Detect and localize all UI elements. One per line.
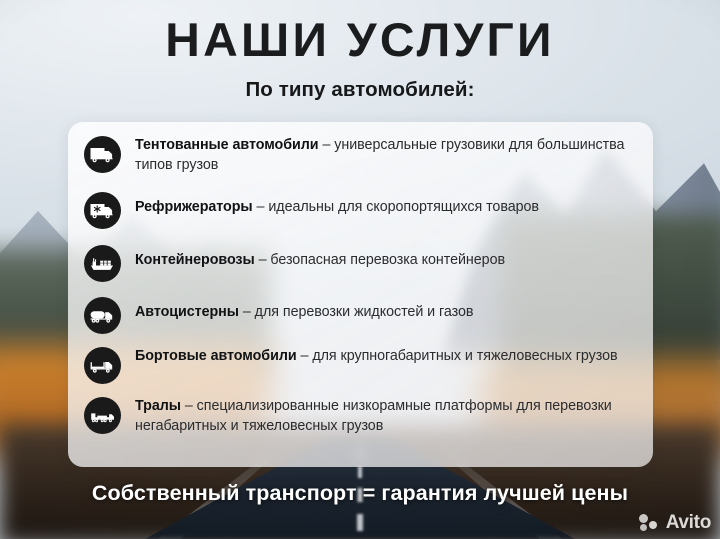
flatbed-truck-icon: [84, 347, 121, 384]
services-poster: НАШИ УСЛУГИ По типу автомобилей: Тентова…: [0, 0, 720, 539]
list-item[interactable]: Контейнеровозы – безопасная перевозка ко…: [84, 244, 637, 282]
list-item[interactable]: Рефрижераторы – идеальны для скоропортящ…: [84, 191, 637, 229]
avito-logo-icon: [639, 514, 662, 531]
list-item-text: Контейнеровозы – безопасная перевозка ко…: [135, 244, 505, 271]
list-item[interactable]: Бортовые автомобили – для крупногабаритн…: [84, 346, 637, 384]
lowboy-trailer-icon: [84, 397, 121, 434]
service-term: Рефрижераторы: [135, 199, 253, 215]
box-truck-icon: [84, 136, 121, 173]
refrigerated-truck-icon: [84, 192, 121, 229]
page-title: НАШИ УСЛУГИ: [0, 16, 720, 65]
service-term: Автоцистерны: [135, 304, 239, 320]
page-subtitle: По типу автомобилей:: [0, 79, 720, 102]
list-item-text: Тралы – специализированные низкорамные п…: [135, 396, 637, 436]
avito-watermark: Avito: [639, 513, 711, 532]
list-item-text: Бортовые автомобили – для крупногабаритн…: [135, 346, 618, 367]
service-description: – для крупногабаритных и тяжеловесных гр…: [297, 348, 618, 364]
service-description: – специализированные низкорамные платфор…: [135, 398, 612, 434]
list-item[interactable]: Автоцистерны – для перевозки жидкостей и…: [84, 296, 637, 334]
service-description: – идеальны для скоропортящихся товаров: [253, 199, 539, 215]
service-term: Тентованные автомобили: [135, 137, 319, 153]
service-term: Тралы: [135, 398, 181, 414]
list-item-text: Автоцистерны – для перевозки жидкостей и…: [135, 296, 473, 323]
tanker-truck-icon: [84, 297, 121, 334]
container-ship-icon: [84, 245, 121, 282]
service-term: Контейнеровозы: [135, 252, 255, 268]
list-item-text: Рефрижераторы – идеальны для скоропортящ…: [135, 191, 539, 218]
tagline: Собственный транспорт = гарантия лучшей …: [0, 481, 720, 506]
list-item[interactable]: Тентованные автомобили – универсальные г…: [84, 135, 637, 175]
service-description: – безопасная перевозка контейнеров: [255, 252, 505, 268]
avito-wordmark: Avito: [666, 513, 711, 532]
services-card: Тентованные автомобили – универсальные г…: [68, 122, 653, 467]
list-item-text: Тентованные автомобили – универсальные г…: [135, 135, 637, 175]
heading-block: НАШИ УСЛУГИ По типу автомобилей:: [0, 16, 720, 101]
service-description: – для перевозки жидкостей и газов: [239, 304, 473, 320]
list-item[interactable]: Тралы – специализированные низкорамные п…: [84, 396, 637, 436]
service-term: Бортовые автомобили: [135, 348, 297, 364]
